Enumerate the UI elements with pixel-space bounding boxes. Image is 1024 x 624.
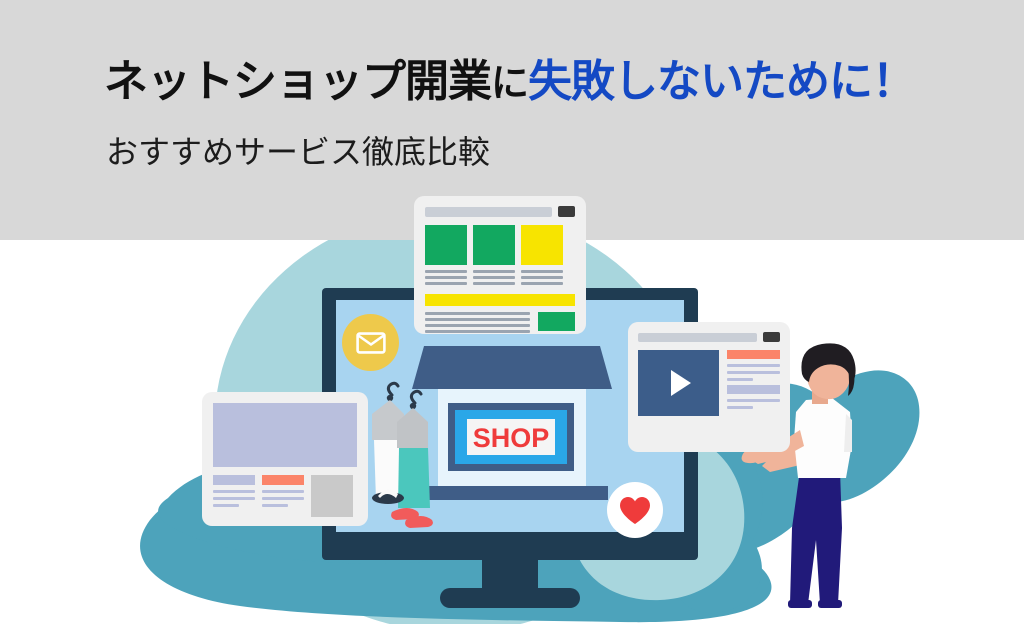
mail-badge[interactable]	[342, 314, 399, 371]
video-url-field[interactable]	[638, 333, 757, 342]
video-player-area[interactable]	[638, 350, 719, 416]
tile-green-2	[473, 225, 515, 265]
envelope-icon	[356, 332, 386, 354]
highlight-banner-bar	[425, 294, 575, 306]
tile-row	[425, 225, 575, 265]
video-player-card[interactable]	[628, 322, 790, 452]
caption-col-2	[473, 270, 515, 288]
headline-particle: に	[491, 63, 528, 105]
footer-text-lines	[425, 312, 530, 336]
col1-heading-bar	[213, 475, 255, 485]
page-title: ネットショップ開業に失敗しないために！	[104, 57, 915, 109]
shop-awning	[412, 346, 612, 389]
svg-text:SHOP: SHOP	[473, 423, 550, 453]
page-subtitle: おすすめサービス徹底比較	[106, 132, 490, 172]
side-heading-bar-coral	[727, 350, 780, 359]
content-thumbnail	[311, 475, 353, 517]
browser-window-card[interactable]	[414, 196, 586, 334]
caption-col-1	[425, 270, 467, 288]
video-card-urlbar	[638, 332, 780, 342]
footer-row	[425, 312, 575, 336]
shop-sign: SHOP	[448, 403, 574, 471]
tablet-content-card[interactable]	[202, 392, 368, 526]
banner-root: SHOP	[0, 0, 1024, 624]
content-col-1	[213, 475, 255, 517]
footer-cta-button[interactable]	[538, 312, 575, 331]
video-menu-button-icon[interactable]	[763, 332, 780, 342]
heart-badge[interactable]	[607, 482, 663, 538]
col2-heading-bar	[262, 475, 304, 485]
content-col-2	[262, 475, 304, 517]
play-triangle-icon[interactable]	[671, 370, 691, 396]
video-card-body	[638, 350, 780, 416]
url-field[interactable]	[425, 207, 552, 217]
caption-col-3	[521, 270, 563, 288]
menu-button-icon[interactable]	[558, 206, 575, 217]
headline-part-blue: 失敗しないために！	[528, 57, 915, 106]
heart-icon	[619, 496, 651, 525]
tile-caption-row	[425, 270, 575, 288]
headline-part-black: ネットショップ開業	[104, 57, 491, 106]
browser-urlbar	[425, 206, 575, 217]
tile-green-1	[425, 225, 467, 265]
tile-yellow	[521, 225, 563, 265]
shop-counter	[428, 486, 608, 500]
video-side-content	[727, 350, 780, 416]
content-columns	[213, 475, 357, 517]
hero-image-placeholder	[213, 403, 357, 467]
side-heading-bar-lavender	[727, 385, 780, 394]
